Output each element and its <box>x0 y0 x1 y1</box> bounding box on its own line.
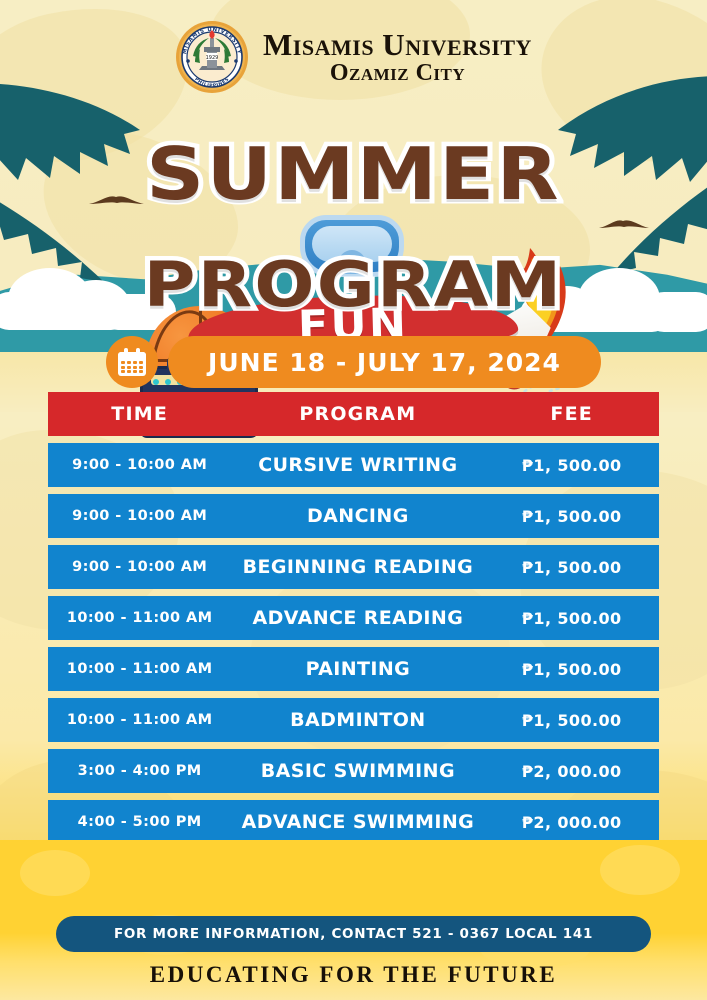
calendar-icon <box>118 348 146 376</box>
calendar-icon-button[interactable] <box>106 336 158 388</box>
title-artwork: SUMMER FUN PROGRAM <box>0 108 707 338</box>
cell-fee: ₱1, 500.00 <box>484 660 659 679</box>
table-row: 9:00 - 10:00 AM CURSIVE WRITING ₱1, 500.… <box>48 443 659 487</box>
cell-time: 9:00 - 10:00 AM <box>48 508 231 524</box>
cell-time: 9:00 - 10:00 AM <box>48 457 231 473</box>
cell-program: PAINTING <box>231 658 484 680</box>
title-line-1: SUMMER <box>0 132 707 216</box>
cell-time: 4:00 - 5:00 PM <box>48 814 231 830</box>
schedule-table: TIME PROGRAM FEE 9:00 - 10:00 AM CURSIVE… <box>48 392 659 895</box>
tagline: EDUCATING FOR THE FUTURE <box>0 962 707 988</box>
poster-root: 1929 MISAMIS UNIVERSITY PHILIPPIN <box>0 0 707 1000</box>
table-row: 10:00 - 11:00 AM ADVANCE READING ₱1, 500… <box>48 596 659 640</box>
university-name: Misamis University <box>263 29 532 61</box>
university-title-block: Misamis University Ozamiz City <box>263 29 532 85</box>
cell-program: ADVANCE SWIMMING <box>231 811 484 833</box>
cell-time: 9:00 - 10:00 AM <box>48 559 231 575</box>
campus-name: Ozamiz City <box>263 61 532 85</box>
cell-program: ADVANCE READING <box>231 607 484 629</box>
cell-fee: ₱2, 000.00 <box>484 813 659 832</box>
table-row: 9:00 - 10:00 AM DANCING ₱1, 500.00 <box>48 494 659 538</box>
cell-time: 10:00 - 11:00 AM <box>48 661 231 677</box>
column-header-program: PROGRAM <box>231 403 484 425</box>
svg-text:1929: 1929 <box>206 55 219 61</box>
cell-program: CURSIVE WRITING <box>231 454 484 476</box>
title-line-2: PROGRAM <box>0 248 707 321</box>
cell-fee: ₱2, 000.00 <box>484 762 659 781</box>
column-header-time: TIME <box>48 403 231 425</box>
cell-program: BEGINNING READING <box>231 556 484 578</box>
table-row: 10:00 - 11:00 AM PAINTING ₱1, 500.00 <box>48 647 659 691</box>
table-header-row: TIME PROGRAM FEE <box>48 392 659 436</box>
university-seal-icon: 1929 MISAMIS UNIVERSITY PHILIPPIN <box>175 20 249 94</box>
table-row: 9:00 - 10:00 AM BEGINNING READING ₱1, 50… <box>48 545 659 589</box>
table-row: 10:00 - 11:00 AM BADMINTON ₱1, 500.00 <box>48 698 659 742</box>
table-row: 4:00 - 5:00 PM ADVANCE SWIMMING ₱2, 000.… <box>48 800 659 844</box>
cell-program: DANCING <box>231 505 484 527</box>
date-range: JUNE 18 - JULY 17, 2024 <box>168 336 601 388</box>
cell-program: BASIC SWIMMING <box>231 760 484 782</box>
contact-bar: FOR MORE INFORMATION, CONTACT 521 - 0367… <box>56 916 651 952</box>
date-banner: JUNE 18 - JULY 17, 2024 <box>0 336 707 388</box>
cell-time: 10:00 - 11:00 AM <box>48 712 231 728</box>
cell-time: 10:00 - 11:00 AM <box>48 610 231 626</box>
cell-program: BADMINTON <box>231 709 484 731</box>
cell-fee: ₱1, 500.00 <box>484 507 659 526</box>
cell-fee: ₱1, 500.00 <box>484 711 659 730</box>
column-header-fee: FEE <box>484 403 659 425</box>
cell-fee: ₱1, 500.00 <box>484 609 659 628</box>
brand-header: 1929 MISAMIS UNIVERSITY PHILIPPIN <box>0 22 707 92</box>
cell-fee: ₱1, 500.00 <box>484 558 659 577</box>
table-row: 3:00 - 4:00 PM BASIC SWIMMING ₱2, 000.00 <box>48 749 659 793</box>
cell-fee: ₱1, 500.00 <box>484 456 659 475</box>
cell-time: 3:00 - 4:00 PM <box>48 763 231 779</box>
